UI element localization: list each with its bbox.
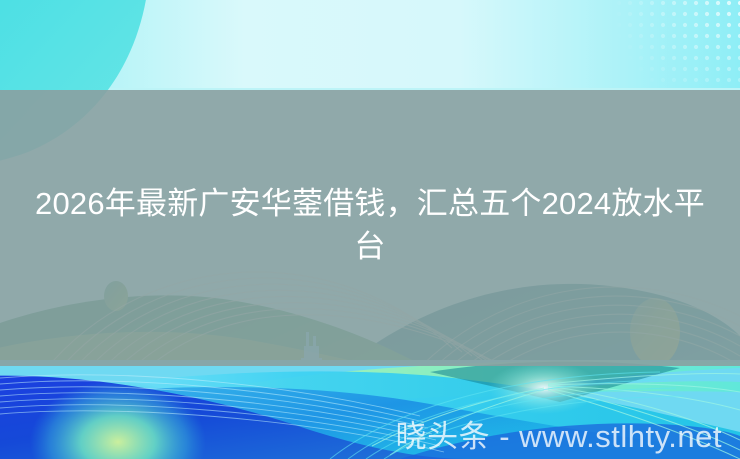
article-cover-banner: 2026年最新广安华蓥借钱，汇总五个2024放水平台 晓头条 - www.stl…: [0, 0, 740, 459]
gray-scrim: [0, 90, 740, 366]
wave-scene: [0, 360, 740, 459]
background-artwork: [0, 0, 740, 459]
